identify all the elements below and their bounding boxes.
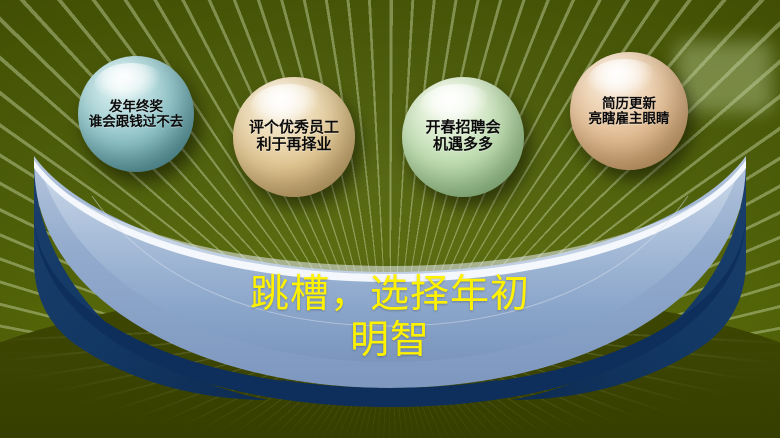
bubble-4-label: 简历更新 亮瞎雇主眼睛	[589, 96, 670, 127]
slide-canvas: 发年终奖 谁会跟钱过不去 评个优秀员工 利于再择业 开春招聘会 机遇多多 简历更…	[0, 0, 780, 438]
bubble-1-label: 发年终奖 谁会跟钱过不去	[89, 99, 184, 130]
bubble-1[interactable]: 发年终奖 谁会跟钱过不去	[78, 56, 194, 172]
bubble-4[interactable]: 简历更新 亮瞎雇主眼睛	[570, 52, 688, 170]
bubble-2[interactable]: 评个优秀员工 利于再择业	[233, 77, 355, 197]
decorative-glow-square-top-right	[676, 42, 772, 112]
bubble-3[interactable]: 开春招聘会 机遇多多	[402, 77, 524, 197]
bubble-3-label: 开春招聘会 机遇多多	[425, 120, 500, 154]
bubble-2-label: 评个优秀员工 利于再择业	[249, 120, 339, 154]
slide-title: 跳槽，选择年初 明智	[0, 272, 780, 364]
